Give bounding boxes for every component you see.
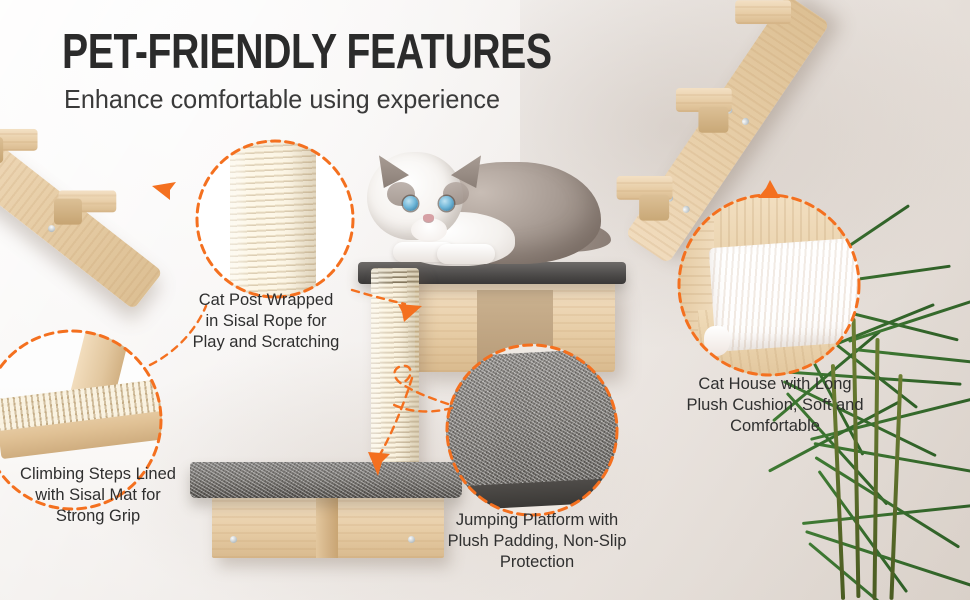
caption-line: Plush Cushion, Soft and [662,395,888,416]
caption-line: Comfortable [662,416,888,437]
caption-line: Plush Padding, Non-Slip [428,531,646,552]
caption-line: Strong Grip [2,506,194,527]
caption-line: Climbing Steps Lined [2,464,194,485]
caption-line: Cat Post Wrapped [168,290,364,311]
product-feature-poster: PET-FRIENDLY FEATURES Enhance comfortabl… [0,0,970,600]
caption-line: in Sisal Rope for [168,311,364,332]
cat-post-caption: Cat Post Wrapped in Sisal Rope for Play … [168,290,364,353]
caption-line: Play and Scratching [168,332,364,353]
page-title: PET-FRIENDLY FEATURES [62,28,552,77]
cat-house-caption: Cat House with Long Plush Cushion, Soft … [662,374,888,437]
caption-line: Protection [428,552,646,573]
caption-line: with Sisal Mat for [2,485,194,506]
climbing-steps-caption: Climbing Steps Lined with Sisal Mat for … [2,464,194,527]
caption-line: Jumping Platform with [428,510,646,531]
jumping-platform-caption: Jumping Platform with Plush Padding, Non… [428,510,646,573]
caption-line: Cat House with Long [662,374,888,395]
page-subtitle: Enhance comfortable using experience [64,86,500,112]
